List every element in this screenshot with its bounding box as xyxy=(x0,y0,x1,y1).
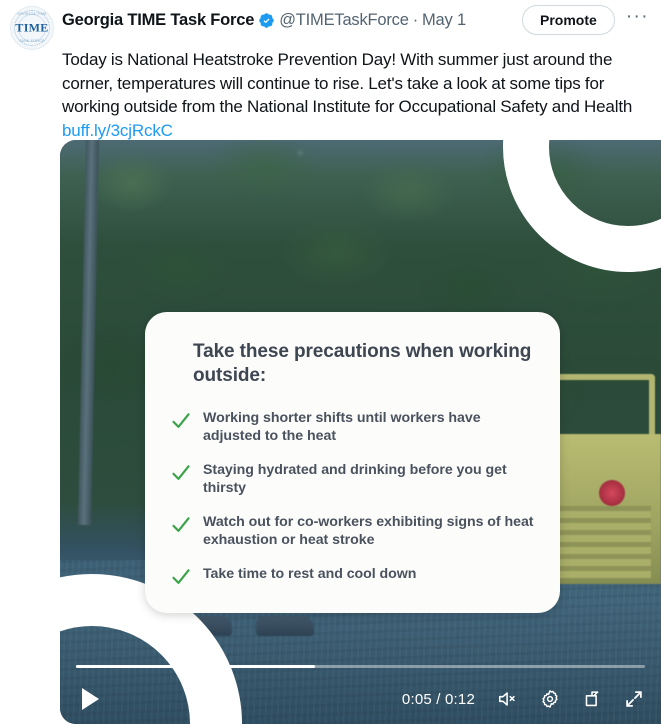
promote-button[interactable]: Promote xyxy=(522,5,615,35)
green-check-icon xyxy=(171,411,191,431)
green-check-icon xyxy=(171,567,191,587)
card-title: Take these precautions when working outs… xyxy=(171,340,534,410)
list-item-label: Working shorter shifts until workers hav… xyxy=(203,410,534,445)
precautions-card: Take these precautions when working outs… xyxy=(145,312,560,613)
gear-icon[interactable] xyxy=(538,688,561,711)
precautions-list: Working shorter shifts until workers hav… xyxy=(171,410,534,587)
volume-muted-icon[interactable] xyxy=(496,688,519,711)
list-item: Take time to rest and cool down xyxy=(171,566,534,587)
list-item-label: Watch out for co-workers exhibiting sign… xyxy=(203,514,534,549)
video-player[interactable]: TRAFFIC INCIDENT GEORGIA TIME TASK FORCE… xyxy=(60,140,661,724)
avatar-bottom-text: TASK FORCE xyxy=(11,39,53,43)
video-progress-bar[interactable] xyxy=(76,665,645,668)
tweet-container: GEORGIA TIME TIME TASK FORCE Georgia TIM… xyxy=(0,0,661,142)
play-icon[interactable] xyxy=(82,688,99,710)
list-item-label: Take time to rest and cool down xyxy=(203,566,416,584)
video-time-label: 0:05 / 0:12 xyxy=(402,691,475,708)
video-controls-right: 0:05 / 0:12 xyxy=(402,688,645,711)
more-options-icon[interactable]: ··· xyxy=(624,12,651,28)
avatar[interactable]: GEORGIA TIME TIME TASK FORCE xyxy=(10,6,54,50)
expand-fullscreen-icon[interactable] xyxy=(622,688,645,711)
list-item: Watch out for co-workers exhibiting sign… xyxy=(171,514,534,549)
tweet-body-copy: Today is National Heatstroke Prevention … xyxy=(62,50,632,116)
truck-taillight xyxy=(599,480,625,506)
avatar-main-text: TIME xyxy=(11,21,53,36)
handle[interactable]: @TIMETaskForce xyxy=(279,11,408,30)
green-check-icon xyxy=(171,463,191,483)
list-item: Staying hydrated and drinking before you… xyxy=(171,462,534,497)
display-name[interactable]: Georgia TIME Task Force xyxy=(62,11,254,30)
list-item-label: Staying hydrated and drinking before you… xyxy=(203,462,534,497)
tweet-header: GEORGIA TIME TIME TASK FORCE Georgia TIM… xyxy=(10,8,651,42)
tweet-link[interactable]: buff.ly/3cjRckC xyxy=(62,121,173,140)
header-actions: Promote ··· xyxy=(522,5,651,35)
video-progress-fill xyxy=(76,665,315,668)
avatar-top-text: GEORGIA TIME xyxy=(11,12,53,16)
worker-boot-right xyxy=(256,616,314,636)
separator-dot: · xyxy=(413,11,418,30)
list-item: Working shorter shifts until workers hav… xyxy=(171,410,534,445)
green-check-icon xyxy=(171,515,191,535)
video-controls: 0:05 / 0:12 xyxy=(60,674,661,724)
author-line: Georgia TIME Task Force @TIMETaskForce ·… xyxy=(62,8,466,30)
pop-out-player-icon[interactable] xyxy=(580,688,603,711)
verified-badge-icon xyxy=(258,12,275,29)
tweet-body-text: Today is National Heatstroke Prevention … xyxy=(10,42,651,142)
tweet-date[interactable]: May 1 xyxy=(422,11,466,30)
